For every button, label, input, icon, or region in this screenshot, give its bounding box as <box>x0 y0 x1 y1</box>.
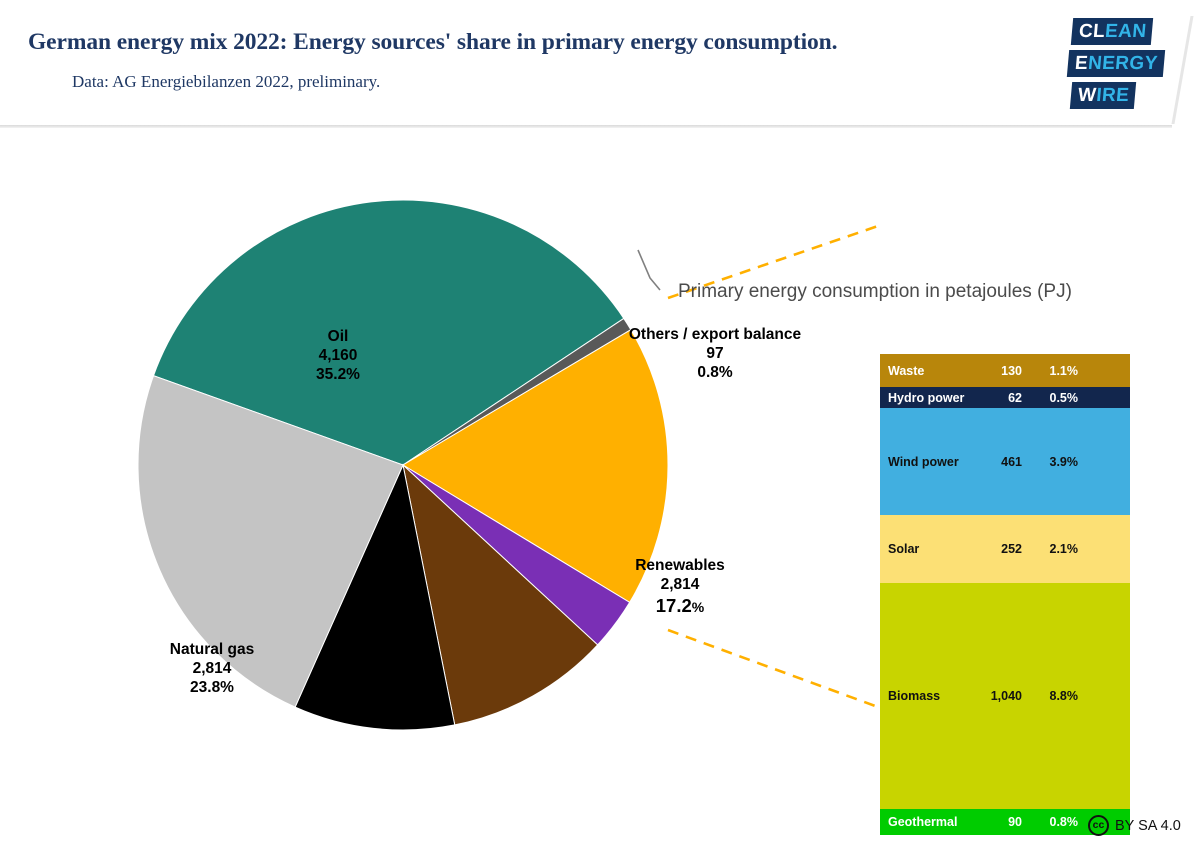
logo-line-wire: WIRE <box>1070 82 1137 109</box>
creative-commons-icon: cc <box>1088 815 1109 836</box>
logo-clean-white: CL <box>1078 21 1106 42</box>
bar-segment-pct: 3.9% <box>1022 455 1078 469</box>
bar-segment-label: Hydro power <box>888 391 974 405</box>
bar-segment-label: Geothermal <box>888 815 974 829</box>
header: German energy mix 2022: Energy sources' … <box>0 0 1200 128</box>
chart-canvas: German energy mix 2022: Energy sources' … <box>0 0 1200 848</box>
logo-clean-blue: EAN <box>1104 21 1147 42</box>
clean-energy-wire-logo: CLEAN ENERGY WIRE <box>1068 18 1178 118</box>
bar-segment-wind-power: Wind power4613.9% <box>880 408 1130 515</box>
chart-body: Oil 4,160 35.2% Others / export balance … <box>0 128 1200 848</box>
page-title: German energy mix 2022: Energy sources' … <box>28 28 1068 56</box>
bar-segment-row: Biomass1,0408.8% <box>888 689 1126 703</box>
bar-segment-value: 90 <box>974 815 1022 829</box>
bar-segment-pct: 2.1% <box>1022 542 1078 556</box>
bar-segment-row: Hydro power620.5% <box>888 391 1126 405</box>
bar-segment-biomass: Biomass1,0408.8% <box>880 583 1130 809</box>
callout-dash-bottom <box>668 630 878 707</box>
renewables-breakdown-bar: Waste1301.1%Hydro power620.5%Wind power4… <box>880 354 1130 835</box>
bar-segment-row: Waste1301.1% <box>888 364 1126 378</box>
bar-segment-waste: Waste1301.1% <box>880 354 1130 387</box>
bar-segment-row: Solar2522.1% <box>888 542 1126 556</box>
bar-segment-value: 461 <box>974 455 1022 469</box>
license-footer: cc BY SA 4.0 <box>1088 815 1181 836</box>
bar-segment-hydro-power: Hydro power620.5% <box>880 387 1130 408</box>
data-source-note: Data: AG Energiebilanzen 2022, prelimina… <box>72 72 972 92</box>
bar-segment-value: 252 <box>974 542 1022 556</box>
logo-slash-decoration <box>1171 16 1193 124</box>
logo-line-clean: CLEAN <box>1071 18 1154 45</box>
bar-segment-label: Wind power <box>888 455 974 469</box>
bar-segment-pct: 0.8% <box>1022 815 1078 829</box>
bar-segment-label: Biomass <box>888 689 974 703</box>
logo-wire-white: W <box>1077 85 1097 106</box>
bar-segment-label: Waste <box>888 364 974 378</box>
logo-wire-blue: IRE <box>1095 85 1130 106</box>
bar-segment-value: 1,040 <box>974 689 1022 703</box>
bar-chart-title: Primary energy consumption in petajoules… <box>678 281 1072 303</box>
bar-segment-pct: 1.1% <box>1022 364 1078 378</box>
others-leader-line <box>638 250 660 290</box>
bar-segment-row: Wind power4613.9% <box>888 455 1126 469</box>
logo-line-energy: ENERGY <box>1067 50 1165 77</box>
license-text: BY SA 4.0 <box>1115 818 1181 834</box>
bar-segment-pct: 0.5% <box>1022 391 1078 405</box>
pie-slice-group <box>138 200 668 730</box>
logo-energy-blue: NERGY <box>1087 53 1158 74</box>
bar-segment-solar: Solar2522.1% <box>880 515 1130 583</box>
bar-segment-value: 62 <box>974 391 1022 405</box>
bar-segment-value: 130 <box>974 364 1022 378</box>
bar-segment-pct: 8.8% <box>1022 689 1078 703</box>
bar-segment-label: Solar <box>888 542 974 556</box>
